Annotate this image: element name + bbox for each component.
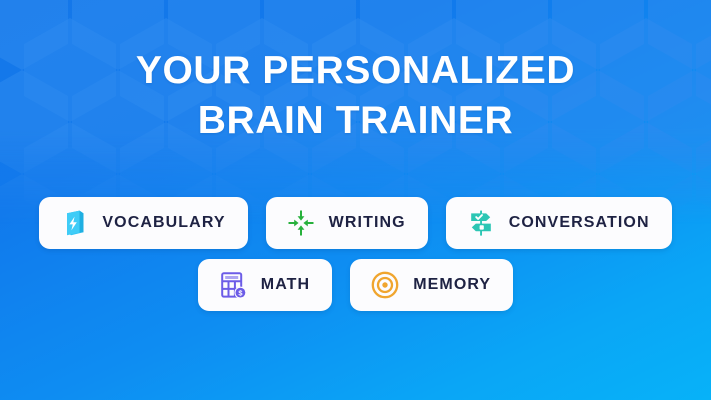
category-row-1: VOCABULARY [0, 197, 711, 249]
category-pill-writing[interactable]: WRITING [266, 197, 428, 249]
category-pill-math[interactable]: $ MATH [198, 259, 332, 311]
category-row-2: $ MATH MEMORY [0, 259, 711, 311]
signpost-icon [466, 208, 496, 238]
category-label: CONVERSATION [509, 214, 650, 232]
focus-arrows-icon [286, 208, 316, 238]
category-label: WRITING [329, 214, 406, 232]
svg-text:$: $ [238, 289, 242, 298]
target-icon [370, 270, 400, 300]
category-pill-memory[interactable]: MEMORY [350, 259, 513, 311]
headline-line-1: YOUR PERSONALIZED [136, 49, 575, 92]
category-pill-groups: VOCABULARY [0, 197, 711, 311]
book-bolt-icon [59, 208, 89, 238]
category-pill-vocabulary[interactable]: VOCABULARY [39, 197, 247, 249]
category-label: MEMORY [413, 276, 491, 294]
category-label: MATH [261, 276, 310, 294]
calculator-dollar-icon: $ [218, 270, 248, 300]
category-pill-conversation[interactable]: CONVERSATION [446, 197, 672, 249]
category-label: VOCABULARY [102, 214, 225, 232]
page-title: YOUR PERSONALIZED BRAIN TRAINER [0, 46, 711, 146]
headline-line-2: BRAIN TRAINER [0, 96, 711, 146]
promo-banner: YOUR PERSONALIZED BRAIN TRAINER VOCABULA… [0, 0, 711, 400]
